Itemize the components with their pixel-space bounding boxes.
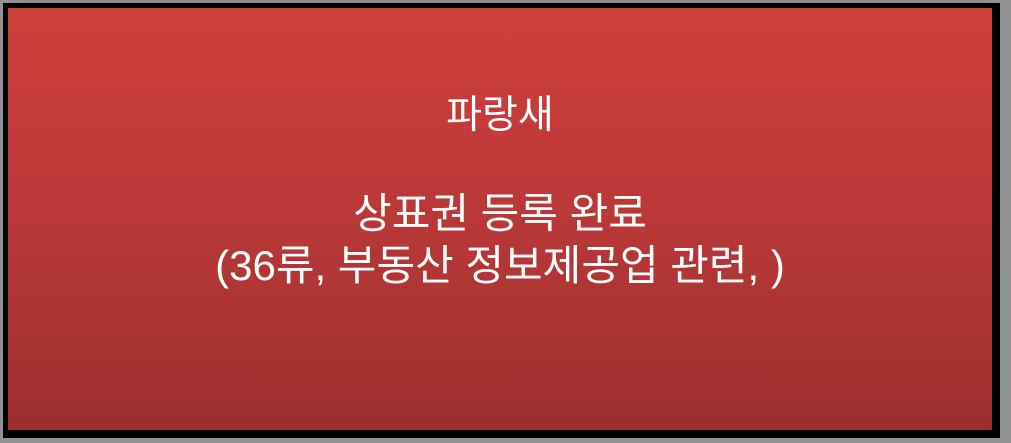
slide-blank-line [8, 140, 992, 188]
slide-title: 파랑새 [8, 92, 992, 140]
slide-body-line-2: (36류, 부동산 정보제공업 관련, ) [8, 240, 992, 292]
slide-canvas: 파랑새 상표권 등록 완료 (36류, 부동산 정보제공업 관련, ) [0, 0, 1011, 443]
slide-text-block: 파랑새 상표권 등록 완료 (36류, 부동산 정보제공업 관련, ) [8, 92, 992, 292]
slide-body-line-1: 상표권 등록 완료 [8, 188, 992, 240]
slide-surface[interactable]: 파랑새 상표권 등록 완료 (36류, 부동산 정보제공업 관련, ) [8, 8, 992, 430]
